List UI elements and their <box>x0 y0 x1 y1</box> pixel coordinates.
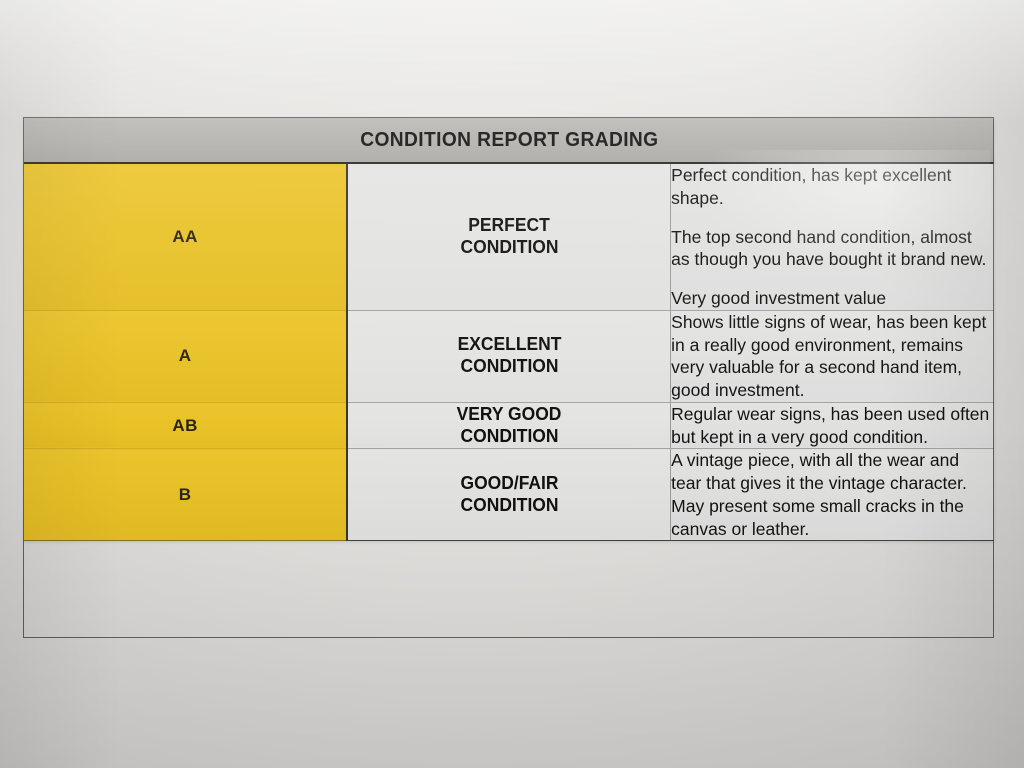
description-paragraph: A vintage piece, with all the wear and t… <box>671 449 994 540</box>
condition-label-line1: PERFECT <box>468 215 549 237</box>
description-paragraph: The top second hand condition, almost as… <box>671 226 994 272</box>
table-row: A EXCELLENT CONDITION Shows little signs… <box>24 310 994 402</box>
description-cell-ab: Regular wear signs, has been used often … <box>671 402 994 449</box>
condition-label-line2: CONDITION <box>460 495 558 517</box>
table-row: B GOOD/FAIR CONDITION A vintage piece, w… <box>24 449 994 541</box>
page-title: CONDITION REPORT GRADING <box>360 129 658 152</box>
description-cell-aa: Perfect condition, has kept excellent sh… <box>671 163 994 310</box>
table-header-cell: CONDITION REPORT GRADING <box>24 118 994 163</box>
condition-cell-aa: PERFECT CONDITION <box>347 163 670 310</box>
description-cell-a: Shows little signs of wear, has been kep… <box>671 310 994 402</box>
description-paragraph: Regular wear signs, has been used often … <box>671 403 994 449</box>
condition-label-line1: GOOD/FAIR <box>460 473 558 495</box>
condition-label-line2: CONDITION <box>460 356 558 378</box>
condition-label-line2: CONDITION <box>460 237 558 259</box>
description-paragraph: Very good investment value <box>671 287 994 310</box>
table-row: AB VERY GOOD CONDITION Regular wear sign… <box>24 402 994 449</box>
condition-report-grading-table: CONDITION REPORT GRADING AA PERFECT COND… <box>24 118 994 541</box>
grade-label: A <box>179 346 192 365</box>
grade-cell-b: B <box>24 449 347 541</box>
description-paragraph: Shows little signs of wear, has been kep… <box>671 311 994 402</box>
description-cell-b: A vintage piece, with all the wear and t… <box>671 449 994 541</box>
condition-cell-b: GOOD/FAIR CONDITION <box>347 449 670 541</box>
condition-cell-ab: VERY GOOD CONDITION <box>347 402 670 449</box>
grade-label: AA <box>172 227 198 246</box>
condition-cell-a: EXCELLENT CONDITION <box>347 310 670 402</box>
grade-label: AB <box>172 416 198 435</box>
description-paragraph: Perfect condition, has kept excellent sh… <box>671 164 994 210</box>
grade-cell-ab: AB <box>24 402 347 449</box>
condition-label-line2: CONDITION <box>460 426 558 448</box>
condition-label-line1: EXCELLENT <box>457 334 561 356</box>
grade-cell-a: A <box>24 310 347 402</box>
grade-label: B <box>179 485 192 504</box>
table-header-row: CONDITION REPORT GRADING <box>24 118 994 163</box>
table-row: AA PERFECT CONDITION Perfect condition, … <box>24 163 994 310</box>
condition-label-line1: VERY GOOD <box>457 404 562 426</box>
grade-cell-aa: AA <box>24 163 347 310</box>
